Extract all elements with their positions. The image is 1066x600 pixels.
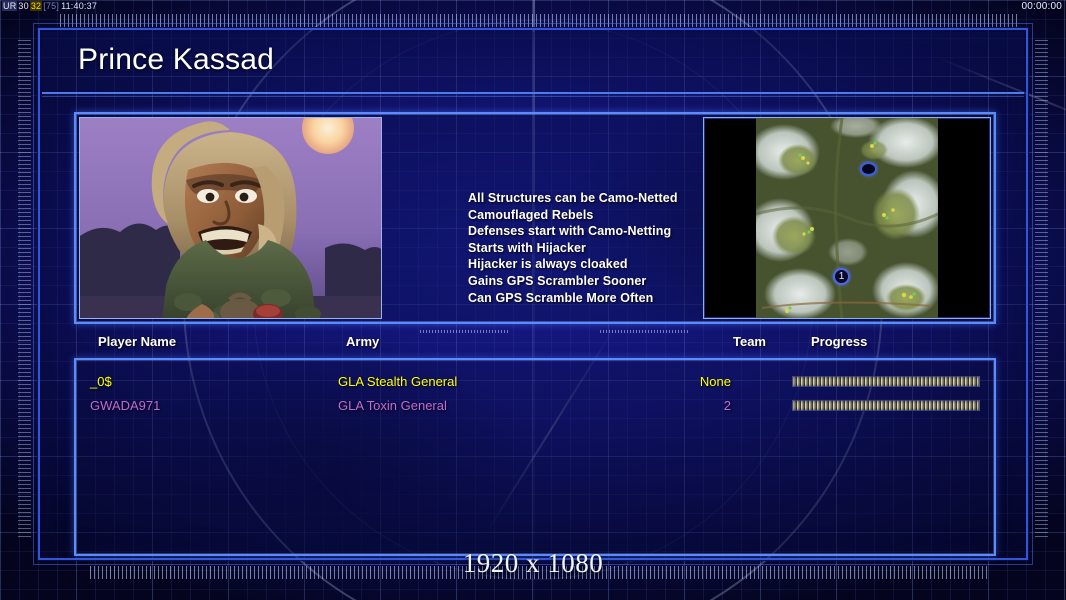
portrait-image <box>80 118 382 319</box>
column-header-progress: Progress <box>811 334 867 349</box>
table-row[interactable]: _0$ GLA Stealth General None <box>76 370 994 394</box>
player-table-header: Player Name Army Team Progress <box>86 334 986 356</box>
player-army: GLA Stealth General <box>338 370 457 394</box>
ruler-left <box>18 40 31 540</box>
player-team: None <box>700 370 731 394</box>
player-name: _0$ <box>90 370 112 394</box>
player-team: 2 <box>724 394 731 418</box>
map-terrain <box>756 118 938 319</box>
player-name: GWADA971 <box>90 394 160 418</box>
map-start-position-marker <box>860 162 877 176</box>
column-header-army: Army <box>346 334 379 349</box>
column-header-player-name: Player Name <box>98 334 176 349</box>
hud-top-bar: UR3032[75]11:40:37 00:00:00 <box>0 0 1066 13</box>
map-start-position-marker-1: 1 <box>833 268 850 285</box>
general-info-panel: All Structures can be Camo-Netted Camouf… <box>74 112 996 324</box>
column-header-team: Team <box>733 334 766 349</box>
decor-tickbar <box>420 330 510 333</box>
ruler-top <box>60 14 1020 27</box>
player-progress-bar <box>792 400 980 411</box>
table-row[interactable]: GWADA971 GLA Toxin General 2 <box>76 394 994 418</box>
map-preview-panel: 1 <box>703 117 991 319</box>
decor-tickbar <box>600 330 690 333</box>
main-frame: Prince Kassad <box>38 28 1028 560</box>
hud-value-3: [75] <box>42 1 60 11</box>
hud-label: UR <box>2 1 17 11</box>
resolution-label: 1920 x 1080 <box>0 548 1066 579</box>
hud-value-1: 30 <box>17 1 29 11</box>
title-bar: Prince Kassad <box>42 32 1024 94</box>
page-title: Prince Kassad <box>78 43 274 77</box>
player-army: GLA Toxin General <box>338 394 447 418</box>
player-progress-bar <box>792 376 980 387</box>
hud-stats: UR3032[75]11:40:37 <box>2 0 98 13</box>
map-preview-image: 1 <box>756 118 938 319</box>
general-portrait <box>79 117 382 319</box>
game-screen: UR3032[75]11:40:37 00:00:00 Prince Kassa… <box>0 0 1066 600</box>
hud-value-2: 32 <box>30 1 42 11</box>
hud-timer: 00:00:00 <box>1021 0 1062 13</box>
ruler-right <box>1035 40 1048 540</box>
player-list: _0$ GLA Stealth General None GWADA971 GL… <box>74 358 996 556</box>
hud-clock: 11:40:37 <box>60 1 98 11</box>
